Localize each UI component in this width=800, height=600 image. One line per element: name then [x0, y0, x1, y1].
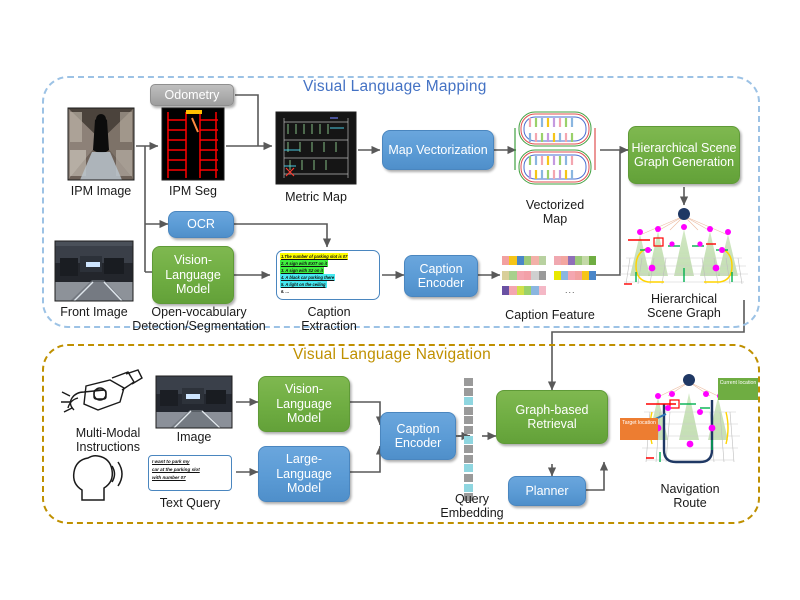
front-image-label: Front Image: [50, 305, 138, 319]
caption-line: 5. A light on the ceiling: [280, 281, 327, 288]
query-embedding-label: Query Embedding: [438, 492, 506, 520]
text-query-line: with number 07: [152, 474, 228, 482]
caption-feature-strip: [502, 271, 546, 280]
panel-title-navigation: Visual Language Navigation: [286, 346, 498, 364]
vectorized-map-label: Vectorized Map: [514, 198, 596, 226]
planner-box[interactable]: Planner: [508, 476, 586, 506]
image-label: Image: [156, 430, 232, 444]
caption-extraction-card: 1.The number of parking slot is 07 2. A …: [276, 250, 380, 300]
metric-map-label: Metric Map: [276, 190, 356, 204]
caption-feature-label: Caption Feature: [494, 308, 606, 322]
caption-feature-strip: [502, 256, 546, 265]
caption-line: 2. A sign with EXIT on it: [280, 260, 328, 267]
target-location-tag: Target location: [620, 418, 658, 440]
vision-language-model-box-navigation[interactable]: Vision- Language Model: [258, 376, 350, 432]
caption-line: 3. A sign with S2 on it: [280, 267, 324, 274]
caption-encoder-box-navigation[interactable]: Caption Encoder: [380, 412, 456, 460]
caption-encoder-box-mapping[interactable]: Caption Encoder: [404, 255, 478, 297]
text-query-bubble: I want to park my car at the parking slo…: [148, 455, 232, 491]
caption-feature-strip: [554, 271, 596, 280]
open-vocabulary-label: Open-vocabulary Detection/Segmentation: [126, 305, 272, 333]
map-vectorization-box[interactable]: Map Vectorization: [382, 130, 494, 170]
vision-language-model-box-mapping[interactable]: Vision- Language Model: [152, 246, 234, 304]
hierarchical-scene-graph-generation-box[interactable]: Hierarchical Scene Graph Generation: [628, 126, 740, 184]
panel-title-mapping: Visual Language Mapping: [296, 78, 494, 96]
ocr-box[interactable]: OCR: [168, 211, 234, 238]
caption-extraction-label: Caption Extraction: [286, 305, 372, 333]
caption-line: 1.The number of parking slot is 07: [280, 253, 348, 260]
odometry-box[interactable]: Odometry: [150, 84, 234, 106]
ipm-image-label: IPM Image: [58, 184, 144, 198]
caption-line: 6. ...: [280, 288, 290, 295]
caption-feature-strip: [502, 286, 546, 295]
caption-feature-ellipsis: ...: [565, 285, 576, 295]
graph-based-retrieval-box[interactable]: Graph-based Retrieval: [496, 390, 608, 444]
text-query-label: Text Query: [146, 496, 234, 510]
navigation-route-label: Navigation Route: [640, 482, 740, 510]
caption-line: 4. A black car parking there: [280, 274, 335, 281]
large-language-model-box[interactable]: Large- Language Model: [258, 446, 350, 502]
hierarchical-scene-graph-label: Hierarchical Scene Graph: [626, 292, 742, 320]
multi-modal-instructions-label: Multi-Modal Instructions: [56, 426, 160, 454]
text-query-line: I want to park my: [152, 458, 228, 466]
current-location-tag: Current location: [718, 378, 758, 400]
panel-visual-language-mapping: [42, 76, 760, 328]
ipm-seg-label: IPM Seg: [152, 184, 234, 198]
caption-feature-strip: [554, 256, 596, 265]
text-query-line: car at the parking slot: [152, 466, 228, 474]
query-embedding-strip: [464, 378, 473, 503]
